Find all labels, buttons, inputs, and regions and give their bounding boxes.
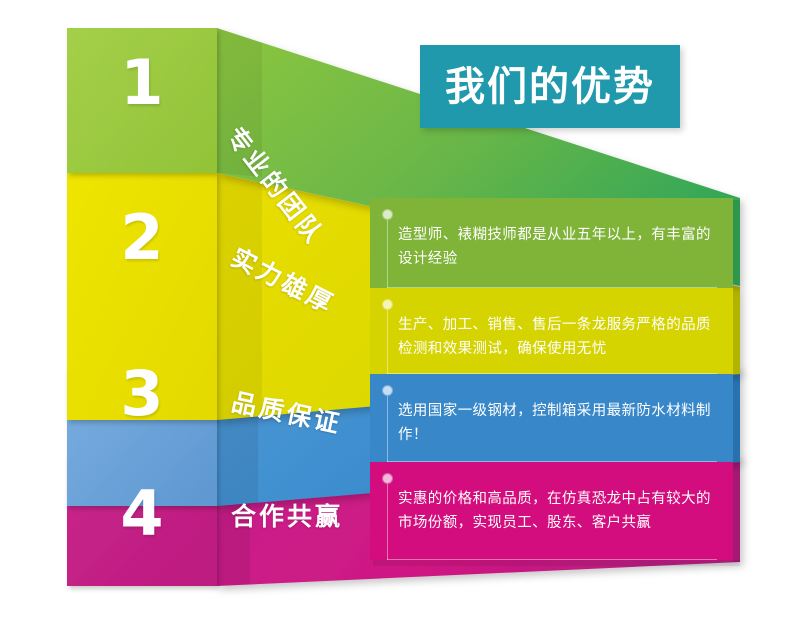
- title-badge: 我们的优势: [420, 45, 680, 128]
- description-panel-1: 造型师、裱糊技师都是从业五年以上，有丰富的设计经验: [370, 198, 733, 288]
- bullet-marker-icon: [383, 300, 392, 309]
- ribbon-label-4: 合作共赢: [231, 504, 343, 529]
- description-text-3: 选用国家一级钢材，控制箱采用最新防水材料制作！: [398, 400, 711, 448]
- description-text-4: 实惠的价格和高品质，在仿真恐龙中占有较大的市场份额，实现员工、股东、客户共赢: [398, 488, 711, 536]
- bullet-marker-icon: [383, 386, 392, 395]
- divider-vertical: [387, 220, 388, 288]
- infographic-canvas: 我们的优势 1 2 3 4 专业的团队 实力雄厚 品质保证 合作共赢 造型师、裱…: [0, 0, 800, 622]
- divider-vertical: [387, 396, 388, 462]
- description-text-2: 生产、加工、销售、售后一条龙服务严格的品质检测和效果测试，确保使用无忧: [398, 314, 711, 362]
- divider-vertical: [387, 484, 388, 560]
- page-title: 我们的优势: [445, 67, 655, 107]
- bullet-marker-icon: [383, 474, 392, 483]
- description-panel-4: 实惠的价格和高品质，在仿真恐龙中占有较大的市场份额，实现员工、股东、客户共赢: [370, 462, 733, 560]
- divider-vertical: [387, 310, 388, 374]
- bullet-marker-icon: [383, 210, 392, 219]
- description-panel-3: 选用国家一级钢材，控制箱采用最新防水材料制作！: [370, 374, 733, 462]
- divider-horizontal: [387, 559, 717, 560]
- description-panel-2: 生产、加工、销售、售后一条龙服务严格的品质检测和效果测试，确保使用无忧: [370, 288, 733, 374]
- description-text-1: 造型师、裱糊技师都是从业五年以上，有丰富的设计经验: [398, 224, 711, 272]
